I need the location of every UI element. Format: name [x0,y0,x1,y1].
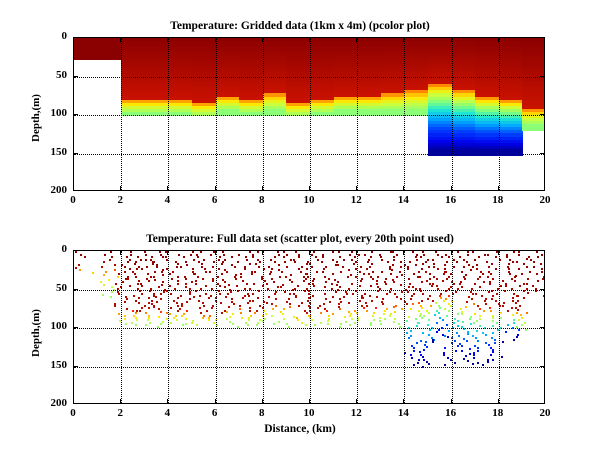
panel2-xtickmark [309,399,310,404]
scatter-point [145,259,147,261]
panel2-xtick: 6 [201,407,229,419]
scatter-point [278,264,280,266]
scatter-point [256,324,258,326]
scatter-point [542,278,544,280]
scatter-point [251,273,253,275]
scatter-point [254,271,256,273]
scatter-point [303,280,305,282]
scatter-point [283,256,285,258]
scatter-point [426,346,428,348]
scatter-point [527,292,529,294]
scatter-point [467,360,469,362]
scatter-point [105,271,107,273]
scatter-point [252,256,254,258]
panel1-xtickmark [356,186,357,191]
scatter-point [247,302,249,304]
panel2-xtick: 10 [295,407,323,419]
scatter-point [125,323,127,325]
scatter-point [145,324,147,326]
scatter-point [79,269,81,271]
scatter-point [432,259,434,261]
scatter-point [541,271,543,273]
scatter-point [115,283,117,285]
scatter-point [371,251,373,253]
scatter-point [208,317,210,319]
scatter-point [239,308,241,310]
scatter-point [228,306,230,308]
scatter-point [137,283,139,285]
scatter-point [442,319,444,321]
scatter-point [475,293,477,295]
scatter-point [110,296,112,298]
scatter-point [349,324,351,326]
scatter-point [474,283,476,285]
panel1-ytick: 100 [33,107,67,119]
panel1-xtick: 0 [59,194,87,206]
scatter-point [518,319,520,321]
scatter-point [518,254,520,256]
scatter-point [161,284,163,286]
pcolor-cell [74,56,98,60]
scatter-point [124,266,126,268]
scatter-point [158,316,160,318]
scatter-point [461,271,463,273]
scatter-point [290,274,292,276]
panel1-ytick: 0 [33,30,67,42]
scatter-point [203,305,205,307]
scatter-point [281,271,283,273]
scatter-point [543,295,545,297]
panel2-title: Temperature: Full data set (scatter plot… [0,233,600,245]
scatter-point [271,315,273,317]
scatter-point [505,331,507,333]
scatter-point [416,325,418,327]
scatter-point [181,305,183,307]
scatter-point [185,278,187,280]
scatter-point [162,321,164,323]
scatter-point [360,266,362,268]
scatter-point [319,305,321,307]
scatter-point [78,264,80,266]
scatter-point [393,281,395,283]
scatter-point [334,279,336,281]
scatter-point [463,358,465,360]
scatter-point [305,324,307,326]
panel2-xtickmark [120,399,121,404]
scatter-point [124,318,126,320]
scatter-point [219,285,221,287]
panel2-gridline-v [168,251,170,404]
scatter-point [336,284,338,286]
scatter-point [266,302,268,304]
scatter-point [508,263,510,265]
panel2-ytickmark [540,327,545,328]
scatter-point [488,266,490,268]
scatter-point [514,280,516,282]
scatter-point [231,264,233,266]
scatter-point [443,354,445,356]
scatter-point [325,281,327,283]
scatter-point [471,298,473,300]
panel1-xtick: 14 [389,194,417,206]
panel1-xtickmark [120,37,121,42]
scatter-point [103,284,105,286]
scatter-point [366,310,368,312]
scatter-point [138,266,140,268]
scatter-point [409,261,411,263]
panel1-plot-area [73,37,545,191]
scatter-point [218,268,220,270]
scatter-point [162,256,164,258]
scatter-point [141,285,143,287]
scatter-point [384,318,386,320]
panel2-gridline-v [452,251,454,404]
panel1-xtickmark [498,37,499,42]
scatter-point [177,305,179,307]
scatter-point [136,268,138,270]
scatter-point [502,341,504,343]
panel1-xtickmark [215,186,216,191]
scatter-point [457,313,459,315]
panel1-xtickmark [167,37,168,42]
scatter-point [392,251,394,253]
scatter-point [118,293,120,295]
scatter-point [217,276,219,278]
scatter-point [396,276,398,278]
scatter-point [400,284,402,286]
scatter-point [332,313,334,315]
scatter-point [271,268,273,270]
scatter-point [158,286,160,288]
panel2-xtickmark [73,250,74,255]
scatter-point [194,273,196,275]
scatter-point [492,325,494,327]
scatter-point [173,300,175,302]
scatter-point [536,251,538,253]
scatter-point [393,259,395,261]
scatter-point [532,285,534,287]
panel2-xtick: 0 [59,407,87,419]
scatter-point [487,361,489,363]
scatter-point [209,271,211,273]
scatter-point [448,295,450,297]
scatter-point [351,251,353,253]
scatter-point [210,295,212,297]
scatter-point [462,321,464,323]
scatter-point [458,335,460,337]
scatter-point [183,256,185,258]
scatter-point [369,266,371,268]
scatter-point [446,278,448,280]
scatter-point [141,268,143,270]
scatter-point [277,286,279,288]
scatter-point [240,312,242,314]
scatter-point [521,324,523,326]
scatter-point [189,293,191,295]
scatter-point [482,273,484,275]
scatter-point [390,313,392,315]
scatter-point [221,273,223,275]
panel1-gridline-v [216,38,218,191]
scatter-point [472,266,474,268]
scatter-point [427,298,429,300]
panel1-ytickmark [73,114,78,115]
scatter-point [439,317,441,319]
scatter-point [118,313,120,315]
scatter-point [436,322,438,324]
scatter-point [513,293,515,295]
scatter-point [432,341,434,343]
scatter-point [381,259,383,261]
panel1-xtickmark [73,37,74,42]
scatter-point [466,340,468,342]
scatter-point [340,271,342,273]
scatter-point [155,296,157,298]
scatter-point [316,271,318,273]
scatter-point [362,297,364,299]
scatter-point [253,283,255,285]
scatter-point [131,322,133,324]
scatter-point [474,313,476,315]
scatter-point [428,363,430,365]
scatter-point [332,296,334,298]
scatter-point [467,254,469,256]
scatter-point [148,307,150,309]
scatter-point [219,293,221,295]
scatter-point [176,266,178,268]
scatter-point [210,254,212,256]
scatter-point [509,273,511,275]
scatter-point [348,302,350,304]
scatter-point [181,315,183,317]
scatter-point [422,332,424,334]
scatter-point [415,264,417,266]
scatter-point [160,298,162,300]
panel1-xtickmark [544,186,545,191]
scatter-point [152,263,154,265]
scatter-point [495,256,497,258]
scatter-point [479,286,481,288]
pcolor-cell [98,56,122,60]
scatter-point [352,293,354,295]
scatter-point [524,322,526,324]
panel1-gridline-v [310,38,312,191]
scatter-point [257,251,259,253]
scatter-point [463,338,465,340]
scatter-point [196,324,198,326]
scatter-point [295,251,297,253]
panel2-xtickmark [215,250,216,255]
scatter-point [506,256,508,258]
scatter-point [320,312,322,314]
scatter-point [101,266,103,268]
scatter-point [390,273,392,275]
scatter-point [249,263,251,265]
scatter-point [185,318,187,320]
scatter-point [523,263,525,265]
scatter-point [314,324,316,326]
scatter-point [346,293,348,295]
scatter-point [109,259,111,261]
scatter-point [479,318,481,320]
scatter-point [487,254,489,256]
scatter-point [490,273,492,275]
scatter-point [248,295,250,297]
scatter-point [286,254,288,256]
scatter-point [293,316,295,318]
scatter-point [349,315,351,317]
scatter-point [377,286,379,288]
scatter-point [485,342,487,344]
scatter-point [445,298,447,300]
scatter-point [521,317,523,319]
scatter-point [237,261,239,263]
panel2-xtickmark [262,399,263,404]
scatter-point [516,312,518,314]
scatter-point [485,303,487,305]
scatter-point [129,259,131,261]
scatter-point [375,307,377,309]
scatter-point [438,312,440,314]
scatter-point [177,283,179,285]
scatter-point [457,325,459,327]
panel2-xtickmark [403,399,404,404]
scatter-point [170,307,172,309]
panel1-xtickmark [215,37,216,42]
scatter-point [428,319,430,321]
scatter-point [324,293,326,295]
scatter-point [446,315,448,317]
scatter-point [383,313,385,315]
scatter-point [283,251,285,253]
panel2-gridline-v [404,251,406,404]
scatter-point [431,285,433,287]
panel1-xtickmark [498,186,499,191]
scatter-point [456,332,458,334]
scatter-point [235,278,237,280]
scatter-point [132,310,134,312]
scatter-point [173,317,175,319]
scatter-point [190,254,192,256]
scatter-point [477,340,479,342]
scatter-point [324,286,326,288]
scatter-point [372,271,374,273]
scatter-point [376,296,378,298]
scatter-point [517,309,519,311]
scatter-point [242,297,244,299]
gridded-pcolor-panel: Temperature: Gridded data (1km x 4m) (pc… [0,0,600,215]
scatter-point [286,266,288,268]
panel1-xtickmark [403,186,404,191]
scatter-point [417,362,419,364]
scatter-point [487,276,489,278]
panel2-xtickmark [451,399,452,404]
scatter-point [376,283,378,285]
scatter-point [519,305,521,307]
scatter-point [268,266,270,268]
scatter-point [322,271,324,273]
scatter-point [222,261,224,263]
scatter-point [512,300,514,302]
scatter-point [298,305,300,307]
scatter-point [273,281,275,283]
scatter-point [530,259,532,261]
scatter-point [371,263,373,265]
scatter-point [199,295,201,297]
scatter-point [474,259,476,261]
scatter-point [436,331,438,333]
scatter-point [275,305,277,307]
scatter-point [135,324,137,326]
scatter-point [240,276,242,278]
scatter-point [454,362,456,364]
scatter-point [410,298,412,300]
scatter-point [285,276,287,278]
scatter-point [114,305,116,307]
panel1-xtick: 4 [153,194,181,206]
scatter-point [124,315,126,317]
scatter-point [455,350,457,352]
scatter-point [135,312,137,314]
scatter-point [270,259,272,261]
panel2-xtick: 2 [106,407,134,419]
scatter-point [208,319,210,321]
scatter-point [189,298,191,300]
scatter-point [324,276,326,278]
scatter-point [515,275,517,277]
panel1-xtick: 20 [531,194,559,206]
scatter-point [481,295,483,297]
scatter-point [432,300,434,302]
scatter-point [465,306,467,308]
scatter-point [258,266,260,268]
scatter-point [477,350,479,352]
scatter-point [252,293,254,295]
scatter-point [372,278,374,280]
scatter-point [332,259,334,261]
scatter-point [533,261,535,263]
scatter-point [373,319,375,321]
scatter-point [416,259,418,261]
scatter-point [208,297,210,299]
panel1-xtickmark [262,37,263,42]
scatter-point [437,268,439,270]
scatter-point [294,261,296,263]
panel2-ytickmark [540,366,545,367]
panel2-xtickmark [73,399,74,404]
scatter-point [284,261,286,263]
scatter-point [469,318,471,320]
scatter-point [456,261,458,263]
scatter-point [198,300,200,302]
scatter-point [425,271,427,273]
scatter-point [239,305,241,307]
scatter-point [351,259,353,261]
scatter-point [527,278,529,280]
scatter-point [231,256,233,258]
scatter-point [278,321,280,323]
scatter-point [421,268,423,270]
scatter-point [252,300,254,302]
scatter-point [327,323,329,325]
scatter-point [229,321,231,323]
scatter-point [178,254,180,256]
scatter-point [513,251,515,253]
panel1-xtickmark [309,37,310,42]
scatter-point [477,278,479,280]
scatter-point [199,307,201,309]
scatter-point [325,298,327,300]
